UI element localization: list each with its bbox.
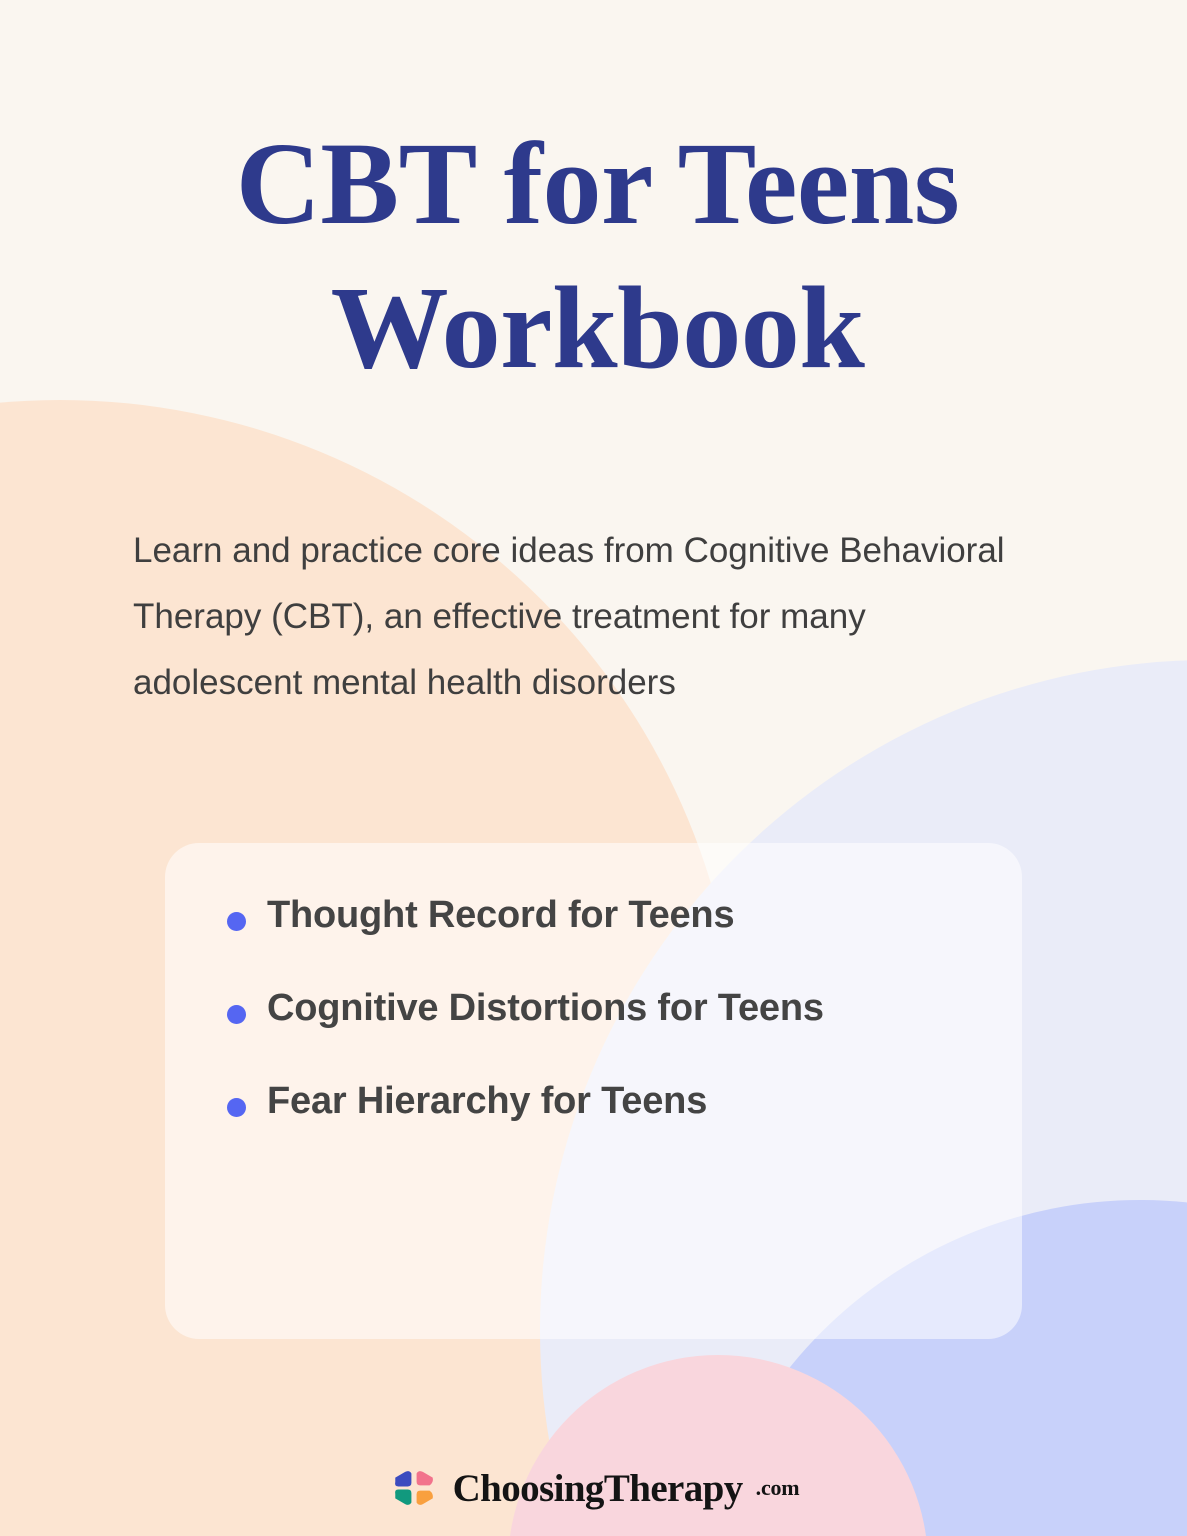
cover-content: CBT for Teens Workbook Learn and practic… [0,0,1187,1536]
brand-tld: .com [756,1477,800,1499]
choosingtherapy-hexagon-logo-icon [388,1462,440,1514]
list-item-label: Fear Hierarchy for Teens [267,1080,707,1122]
description-text: Learn and practice core ideas from Cogni… [133,518,1033,716]
list-item-label: Cognitive Distortions for Teens [267,987,824,1029]
footer-brand-logo: ChoosingTherapy .com [0,1462,1187,1514]
page-title: CBT for Teens Workbook [110,112,1085,400]
brand-wordmark: ChoosingTherapy [453,1469,743,1508]
workbook-cover: CBT for Teens Workbook Learn and practic… [0,0,1187,1536]
bullet-dot-icon [227,1098,246,1117]
bullet-dot-icon [227,912,246,931]
list-item: Cognitive Distortions for Teens [222,983,922,1034]
bullet-dot-icon [227,1005,246,1024]
list-item-label: Thought Record for Teens [267,894,734,936]
list-item: Fear Hierarchy for Teens [222,1076,922,1127]
feature-list: Thought Record for Teens Cognitive Disto… [222,890,922,1127]
list-item: Thought Record for Teens [222,890,922,941]
